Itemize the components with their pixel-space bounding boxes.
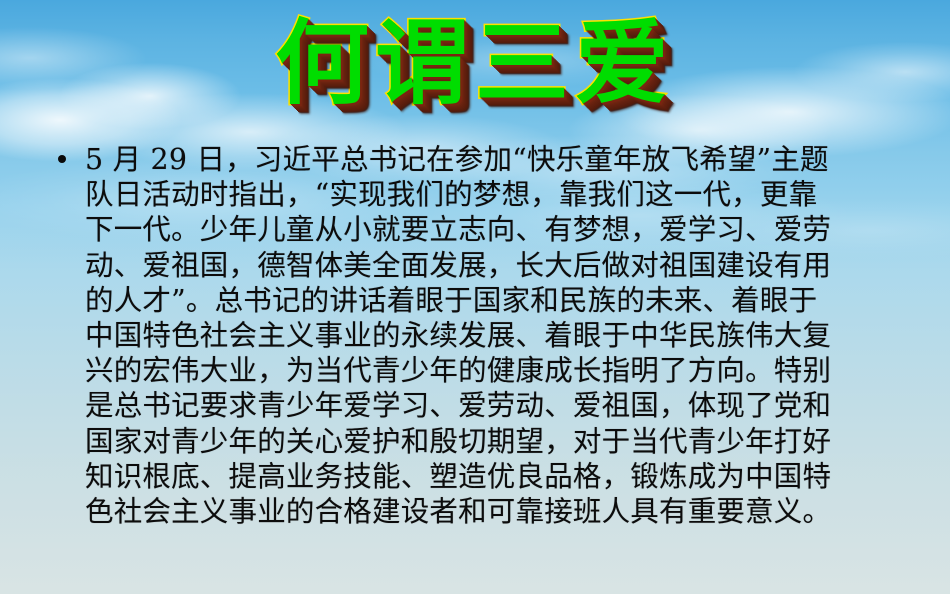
slide-body: 5 月 29 日，习近平总书记在参加“快乐童年放飞希望”主题队日活动时指出，“实… [50,142,930,529]
body-line: 兴的宏伟大业，为当代青少年的健康成长指明了方向。特别 [50,353,930,388]
body-line: 是总书记要求青少年爱学习、爱劳动、爱祖国，体现了党和 [50,388,930,423]
slide-title-container: 何谓三爱 [0,14,950,113]
bullet-point-icon [58,155,66,163]
body-line: 动、爱祖国，德智体美全面发展，长大后做对祖国建设有用 [50,248,930,283]
body-line: 下一代。少年儿童从小就要立志向、有梦想，爱学习、爱劳 [50,212,930,247]
body-line: 色社会主义事业的合格建设者和可靠接班人具有重要意义。 [50,494,930,529]
body-line: 国家对青少年的关心爱护和殷切期望，对于当代青少年打好 [50,424,930,459]
body-line: 队日活动时指出，“实现我们的梦想，靠我们这一代，更靠 [50,177,930,212]
body-line: 知识根底、提高业务技能、塑造优良品格，锻炼成为中国特 [50,459,930,494]
body-line: 中国特色社会主义事业的永续发展、着眼于中华民族伟大复 [50,318,930,353]
slide-title: 何谓三爱 [275,14,675,113]
presentation-slide: 何谓三爱 5 月 29 日，习近平总书记在参加“快乐童年放飞希望”主题队日活动时… [0,0,950,594]
body-line: 的人才”。总书记的讲话着眼于国家和民族的未来、着眼于 [50,283,930,318]
body-line: 5 月 29 日，习近平总书记在参加“快乐童年放飞希望”主题 [50,142,930,177]
bullet-paragraph: 5 月 29 日，习近平总书记在参加“快乐童年放飞希望”主题队日活动时指出，“实… [50,142,930,529]
body-text-lines: 5 月 29 日，习近平总书记在参加“快乐童年放飞希望”主题队日活动时指出，“实… [50,142,930,529]
